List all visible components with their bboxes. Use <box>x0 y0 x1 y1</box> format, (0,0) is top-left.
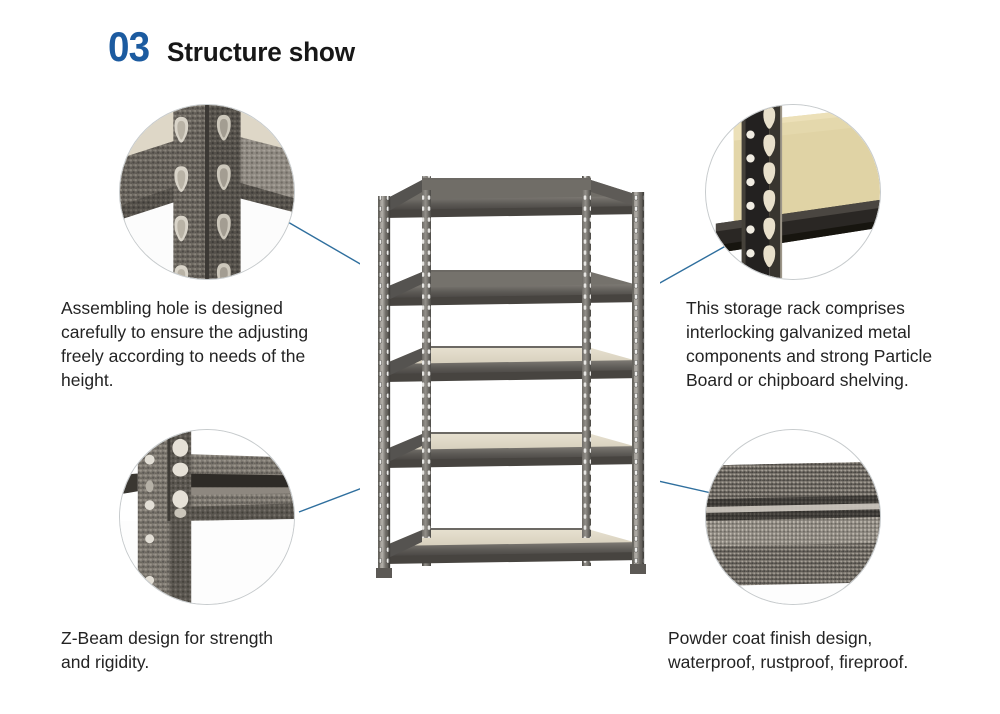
caption-assembling-hole: Assembling hole is designed carefully to… <box>61 297 361 393</box>
callout-image-z-beam-joint <box>119 429 295 605</box>
caption-galvanized-components: This storage rack comprises interlocking… <box>686 297 972 393</box>
caption-powder-coat-finish: Powder coat finish design, waterproof, r… <box>668 627 988 675</box>
structure-show-slide: 03 Structure show <box>0 0 1000 714</box>
page-title: 03 Structure show <box>108 26 360 68</box>
section-title: Structure show <box>167 39 355 66</box>
callout-image-galvanized-components <box>705 104 881 280</box>
callout-image-powder-coat-finish <box>705 429 881 605</box>
section-number: 03 <box>108 26 149 68</box>
caption-z-beam-design: Z-Beam design for strength and rigidity. <box>61 627 361 675</box>
callout-image-assembling-hole <box>119 104 295 280</box>
product-image-shelving-rack <box>360 160 660 600</box>
